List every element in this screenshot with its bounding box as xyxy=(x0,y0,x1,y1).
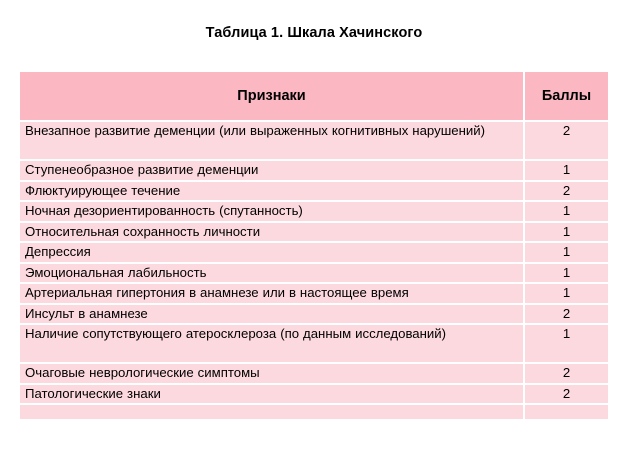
cell-feature: Ночная дезориентированность (спутанность… xyxy=(20,201,524,222)
cell-feature: Внезапное развитие деменции (или выражен… xyxy=(20,121,524,160)
score-value: 2 xyxy=(525,385,608,404)
feature-text: Наличие сопутствующего атеросклероза (по… xyxy=(20,325,523,344)
score-value: 2 xyxy=(525,364,608,383)
cell-score: 2 xyxy=(524,363,608,384)
table-row: Флюктуирующее течение2 xyxy=(20,181,608,202)
feature-text: Инсульт в анамнезе xyxy=(20,305,523,324)
table-row: Инсульт в анамнезе2 xyxy=(20,304,608,325)
feature-text: Относительная сохранность личности xyxy=(20,223,523,242)
cell-score: 1 xyxy=(524,201,608,222)
score-value: 1 xyxy=(525,284,608,303)
table-bottom-filler-cell-score xyxy=(524,404,608,419)
cell-feature: Флюктуирующее течение xyxy=(20,181,524,202)
score-value: 1 xyxy=(525,161,608,180)
table-row: Ступенеобразное развитие деменции1 xyxy=(20,160,608,181)
column-header-score: Баллы xyxy=(524,72,608,121)
score-value: 2 xyxy=(525,305,608,324)
table-row: Ночная дезориентированность (спутанность… xyxy=(20,201,608,222)
table-row: Артериальная гипертония в анамнезе или в… xyxy=(20,283,608,304)
feature-text: Флюктуирующее течение xyxy=(20,182,523,201)
column-header-feature: Признаки xyxy=(20,72,524,121)
cell-score: 1 xyxy=(524,222,608,243)
feature-text: Очаговые неврологические симптомы xyxy=(20,364,523,383)
cell-feature: Эмоциональная лабильность xyxy=(20,263,524,284)
cell-score: 1 xyxy=(524,324,608,363)
table-row: Депрессия1 xyxy=(20,242,608,263)
cell-feature: Очаговые неврологические симптомы xyxy=(20,363,524,384)
score-value: 2 xyxy=(525,182,608,201)
cell-score: 1 xyxy=(524,263,608,284)
cell-feature: Ступенеобразное развитие деменции xyxy=(20,160,524,181)
score-value: 1 xyxy=(525,243,608,262)
table-row: Относительная сохранность личности1 xyxy=(20,222,608,243)
score-value: 2 xyxy=(525,122,608,141)
table-row: Наличие сопутствующего атеросклероза (по… xyxy=(20,324,608,363)
table-row: Внезапное развитие деменции (или выражен… xyxy=(20,121,608,160)
score-value: 1 xyxy=(525,264,608,283)
table-body: Внезапное развитие деменции (или выражен… xyxy=(20,121,608,419)
hachinski-scale-table: Признаки Баллы Внезапное развитие деменц… xyxy=(20,72,608,419)
table-row: Очаговые неврологические симптомы2 xyxy=(20,363,608,384)
cell-feature: Депрессия xyxy=(20,242,524,263)
feature-text: Депрессия xyxy=(20,243,523,262)
cell-score: 2 xyxy=(524,304,608,325)
cell-score: 1 xyxy=(524,160,608,181)
page: Таблица 1. Шкала Хачинского Признаки Бал… xyxy=(0,0,628,458)
table-bottom-filler xyxy=(20,404,608,419)
score-value: 1 xyxy=(525,202,608,221)
feature-text: Ступенеобразное развитие деменции xyxy=(20,161,523,180)
table-bottom-filler-cell xyxy=(20,404,524,419)
feature-text: Артериальная гипертония в анамнезе или в… xyxy=(20,284,523,303)
cell-feature: Патологические знаки xyxy=(20,384,524,405)
cell-score: 1 xyxy=(524,283,608,304)
table-header: Признаки Баллы xyxy=(20,72,608,121)
page-title: Таблица 1. Шкала Хачинского xyxy=(0,24,628,42)
score-value: 1 xyxy=(525,223,608,242)
feature-text: Патологические знаки xyxy=(20,385,523,404)
cell-feature: Артериальная гипертония в анамнезе или в… xyxy=(20,283,524,304)
feature-text: Эмоциональная лабильность xyxy=(20,264,523,283)
feature-text: Внезапное развитие деменции (или выражен… xyxy=(20,122,523,141)
table-row: Эмоциональная лабильность1 xyxy=(20,263,608,284)
table-row: Патологические знаки2 xyxy=(20,384,608,405)
cell-feature: Относительная сохранность личности xyxy=(20,222,524,243)
cell-score: 2 xyxy=(524,121,608,160)
cell-feature: Инсульт в анамнезе xyxy=(20,304,524,325)
cell-score: 2 xyxy=(524,384,608,405)
feature-text: Ночная дезориентированность (спутанность… xyxy=(20,202,523,221)
cell-score: 2 xyxy=(524,181,608,202)
cell-score: 1 xyxy=(524,242,608,263)
table-header-row: Признаки Баллы xyxy=(20,72,608,121)
score-value: 1 xyxy=(525,325,608,344)
cell-feature: Наличие сопутствующего атеросклероза (по… xyxy=(20,324,524,363)
